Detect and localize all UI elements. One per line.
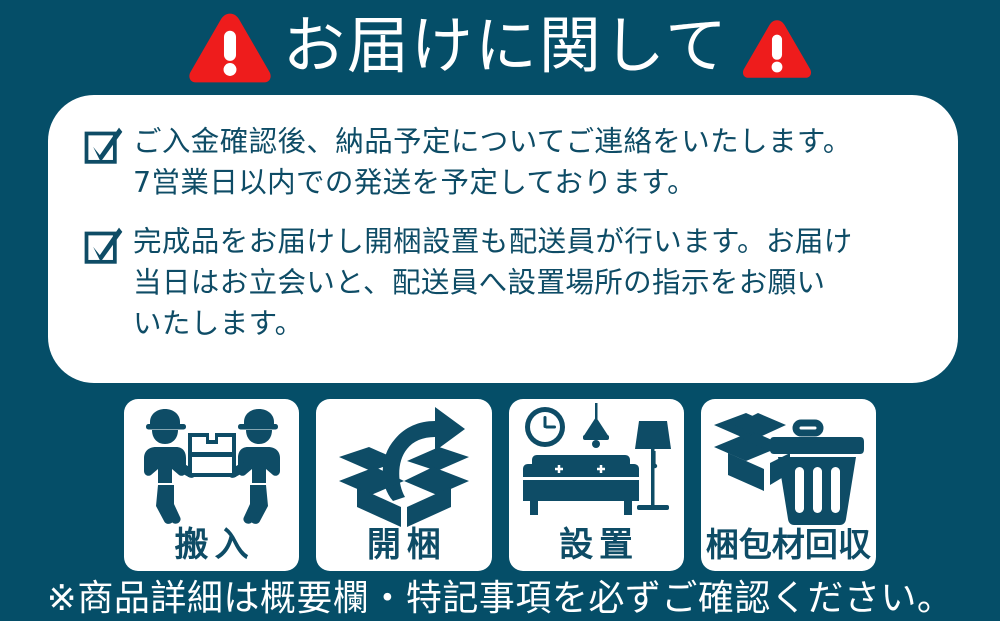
box-and-trash-can-icon — [701, 399, 876, 527]
open-box-with-arrow-icon — [316, 399, 491, 527]
service-item-label: 梱包材回収 — [706, 527, 871, 563]
footer-note: ※商品詳細は概要欄・特記事項を必ずご確認ください。 — [0, 576, 1000, 621]
service-item-carry-in: 搬入 — [124, 399, 299, 571]
two-movers-carrying-box-icon — [124, 399, 299, 527]
list-item-label: 完成品をお届けし開梱設置も配送員が行います。お届け 当日はお立会いと、配送員へ設… — [133, 221, 853, 344]
service-item-label: 搬入 — [169, 527, 255, 563]
service-icon-row: 搬入 開梱 — [124, 399, 876, 571]
footer-note-text: ※商品詳細は概要欄・特記事項を必ずご確認ください。 — [47, 581, 954, 617]
service-item-packing-material-collection: 梱包材回収 — [701, 399, 876, 571]
notice-card-body: ご入金確認後、納品予定についてご連絡をいたします。 7営業日以内での発送を予定し… — [48, 95, 958, 344]
service-item-label: 設置 — [553, 527, 639, 563]
page-title: お届けに関して — [283, 15, 729, 81]
warning-triangle-icon — [187, 10, 273, 86]
header-banner: お届けに関して — [0, 0, 1000, 96]
living-room-furniture-icon — [509, 399, 684, 527]
list-item: ご入金確認後、納品予定についてご連絡をいたします。 7営業日以内での発送を予定し… — [84, 121, 924, 203]
notice-card: ご入金確認後、納品予定についてご連絡をいたします。 7営業日以内での発送を予定し… — [48, 95, 958, 383]
service-item-unpacking: 開梱 — [316, 399, 491, 571]
warning-triangle-icon — [741, 17, 813, 81]
list-item: 完成品をお届けし開梱設置も配送員が行います。お届け 当日はお立会いと、配送員へ設… — [84, 221, 924, 344]
service-item-installation: 設置 — [509, 399, 684, 571]
checkbox-checked-icon — [84, 125, 124, 167]
checkbox-checked-icon — [84, 225, 124, 267]
list-item-label: ご入金確認後、納品予定についてご連絡をいたします。 7営業日以内での発送を予定し… — [133, 121, 852, 203]
service-item-label: 開梱 — [361, 527, 447, 563]
